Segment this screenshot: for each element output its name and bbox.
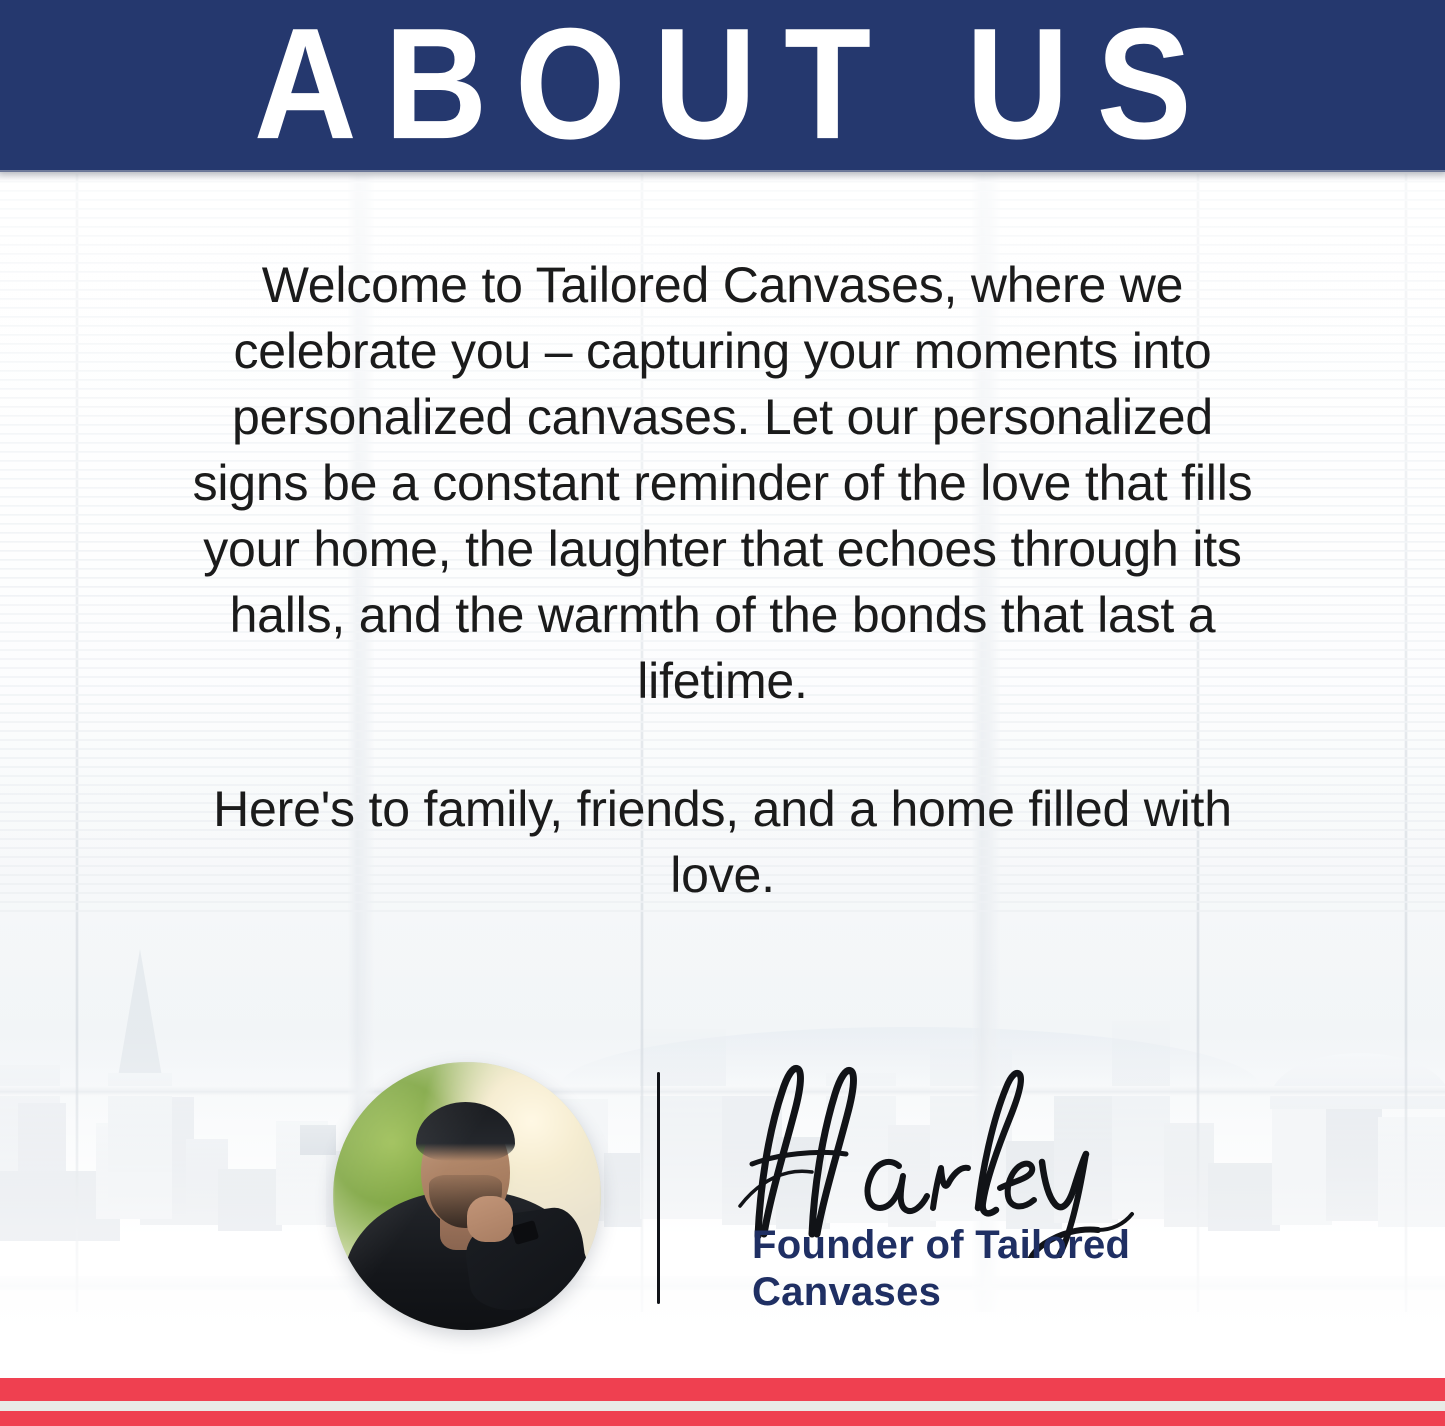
footer-bar-gap: [0, 1401, 1445, 1411]
about-paragraph-2: Here's to family, friends, and a home fi…: [180, 776, 1265, 908]
page-header: ABOUT US: [0, 0, 1445, 172]
header-shadow: [0, 170, 1445, 182]
founder-role: Founder of Tailored Canvases: [752, 1222, 1172, 1316]
footer-bar-upper: [0, 1378, 1445, 1401]
page-title: ABOUT US: [226, 4, 1219, 162]
signature-text-group: Founder of Tailored Canvases: [690, 1050, 1160, 1350]
about-copy: Welcome to Tailored Canvases, where we c…: [0, 252, 1445, 908]
signature-divider: [657, 1072, 660, 1304]
footer-bar-lower: [0, 1411, 1445, 1426]
about-us-card: ABOUT US Welcome to Tailored Canvases, w…: [0, 0, 1445, 1426]
founder-role-line-1: Founder of Tailored: [752, 1222, 1172, 1269]
avatar: [333, 1062, 601, 1330]
paragraph-spacer: [180, 714, 1265, 776]
about-paragraph-1: Welcome to Tailored Canvases, where we c…: [180, 252, 1265, 714]
founder-signature-block: Founder of Tailored Canvases: [0, 1050, 1445, 1350]
founder-role-line-2: Canvases: [752, 1269, 1172, 1316]
